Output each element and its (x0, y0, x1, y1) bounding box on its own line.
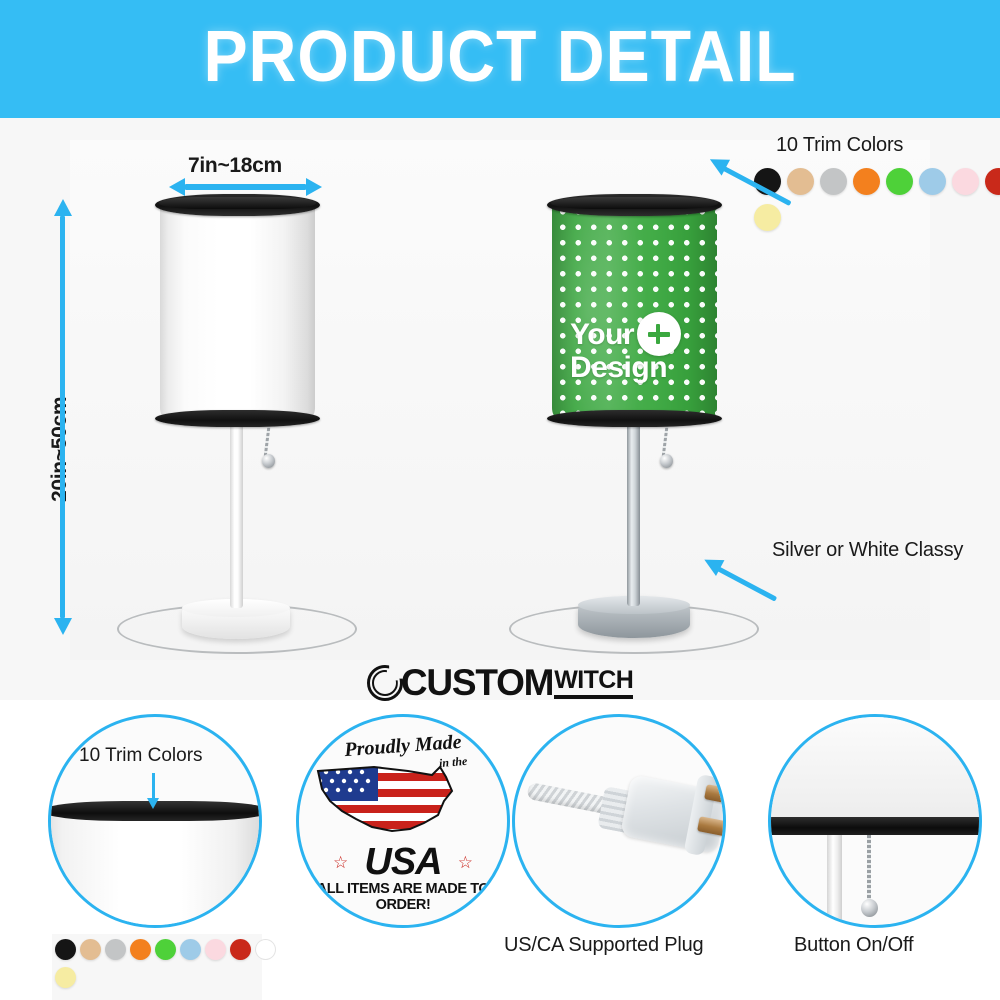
trim-swatch-tan[interactable] (80, 939, 101, 960)
lamp-pole-white (230, 418, 243, 608)
arrow-head-right (306, 178, 322, 196)
trim-circle-down-arrow (152, 773, 155, 799)
trim-swatch-white[interactable] (255, 939, 276, 960)
trim-swatch-gray[interactable] (820, 168, 847, 195)
shade-trim-top-white (155, 194, 320, 216)
trim-swatch-orange[interactable] (853, 168, 880, 195)
usa-badge: Proudly Made in the (299, 717, 507, 925)
logo-secondary-text: WITCH (554, 667, 633, 693)
lamp-shade-white (160, 200, 315, 418)
shade-trim-bottom-white (155, 410, 320, 427)
base-finish-callout-label: Silver or White Classy (772, 539, 963, 562)
feature-circle-trim-colors: 10 Trim Colors (48, 714, 262, 928)
page-title: PRODUCT DETAIL (40, 0, 960, 118)
trim-swatch-red[interactable] (985, 168, 1000, 195)
logo-underline (554, 695, 633, 699)
trim-circle-shade (48, 809, 262, 928)
usa-map-flag-icon (312, 757, 464, 839)
feature-label-plug: US/CA Supported Plug (504, 934, 703, 957)
feature-circle-made-in-usa: Proudly Made in the (296, 714, 510, 928)
trim-swatch-orange[interactable] (130, 939, 151, 960)
button-circle-trim-band (768, 817, 982, 835)
logo-secondary-wrap: WITCH (554, 667, 633, 699)
shade-surface-white (160, 200, 315, 418)
button-circle-chain-ball (861, 899, 878, 917)
usa-star-right-icon: ☆ (458, 853, 473, 873)
lamp-shade-green: Your Design (552, 200, 717, 418)
height-dimension-arrow (60, 216, 65, 618)
arrow-head-up (54, 199, 72, 216)
trim-inner-green (551, 197, 718, 209)
button-circle-pull-chain (867, 835, 871, 903)
trim-swatch-light-blue[interactable] (180, 939, 201, 960)
arrow-stem (717, 566, 778, 601)
usa-star-left-icon: ☆ (333, 853, 348, 873)
width-dimension-label: 7in~18cm (188, 154, 282, 178)
pull-chain-ball-white (262, 454, 275, 468)
feature-label-button: Button On/Off (794, 934, 913, 957)
trim-swatch-pink[interactable] (952, 168, 979, 195)
arrow-head-left (169, 178, 185, 196)
polka-dot-pattern (552, 200, 717, 418)
button-circle-pole (827, 835, 842, 928)
trim-colors-swatch-row-bottom (55, 939, 263, 999)
feature-strip: 10 Trim Colors Proudly Made in the (0, 706, 1000, 1000)
button-circle-shade (768, 714, 982, 819)
design-line-2: Design (570, 351, 717, 384)
trim-swatch-light-blue[interactable] (919, 168, 946, 195)
trim-swatch-green[interactable] (886, 168, 913, 195)
main-stage: 7in~18cm 20in~50cm (0, 118, 1000, 700)
logo-c-mark-icon (367, 665, 403, 701)
product-detail-infographic: PRODUCT DETAIL 7in~18cm 20in~50cm (0, 0, 1000, 1000)
logo-primary-text: CUSTOM (401, 662, 553, 704)
usa-text: USA (299, 841, 507, 884)
trim-colors-swatch-row (754, 168, 1000, 238)
feature-circle-button (768, 714, 982, 928)
shade-trim-bottom-green (547, 410, 722, 427)
feature-circle-plug (512, 714, 726, 928)
lamp-pole-silver (627, 418, 640, 606)
pull-chain-ball-silver (660, 454, 673, 468)
trim-swatch-black[interactable] (55, 939, 76, 960)
arrow-head-down (54, 618, 72, 635)
trim-inner-white (159, 197, 316, 209)
usa-subtitle-text: ALL ITEMS ARE MADE TO ORDER! (299, 881, 507, 913)
trim-swatch-green[interactable] (155, 939, 176, 960)
trim-swatch-pink[interactable] (205, 939, 226, 960)
trim-circle-label: 10 Trim Colors (79, 745, 203, 767)
trim-swatch-yellow[interactable] (55, 967, 76, 988)
plus-icon (637, 312, 681, 356)
width-dimension-arrow (185, 184, 306, 190)
trim-swatch-red[interactable] (230, 939, 251, 960)
trim-colors-callout-label: 10 Trim Colors (776, 134, 903, 157)
your-design-text: Your Design (552, 318, 717, 384)
trim-swatch-gray[interactable] (105, 939, 126, 960)
header-banner: PRODUCT DETAIL (0, 0, 1000, 118)
brand-logo: CUSTOM WITCH (0, 660, 1000, 706)
shade-trim-top-green (547, 194, 722, 216)
